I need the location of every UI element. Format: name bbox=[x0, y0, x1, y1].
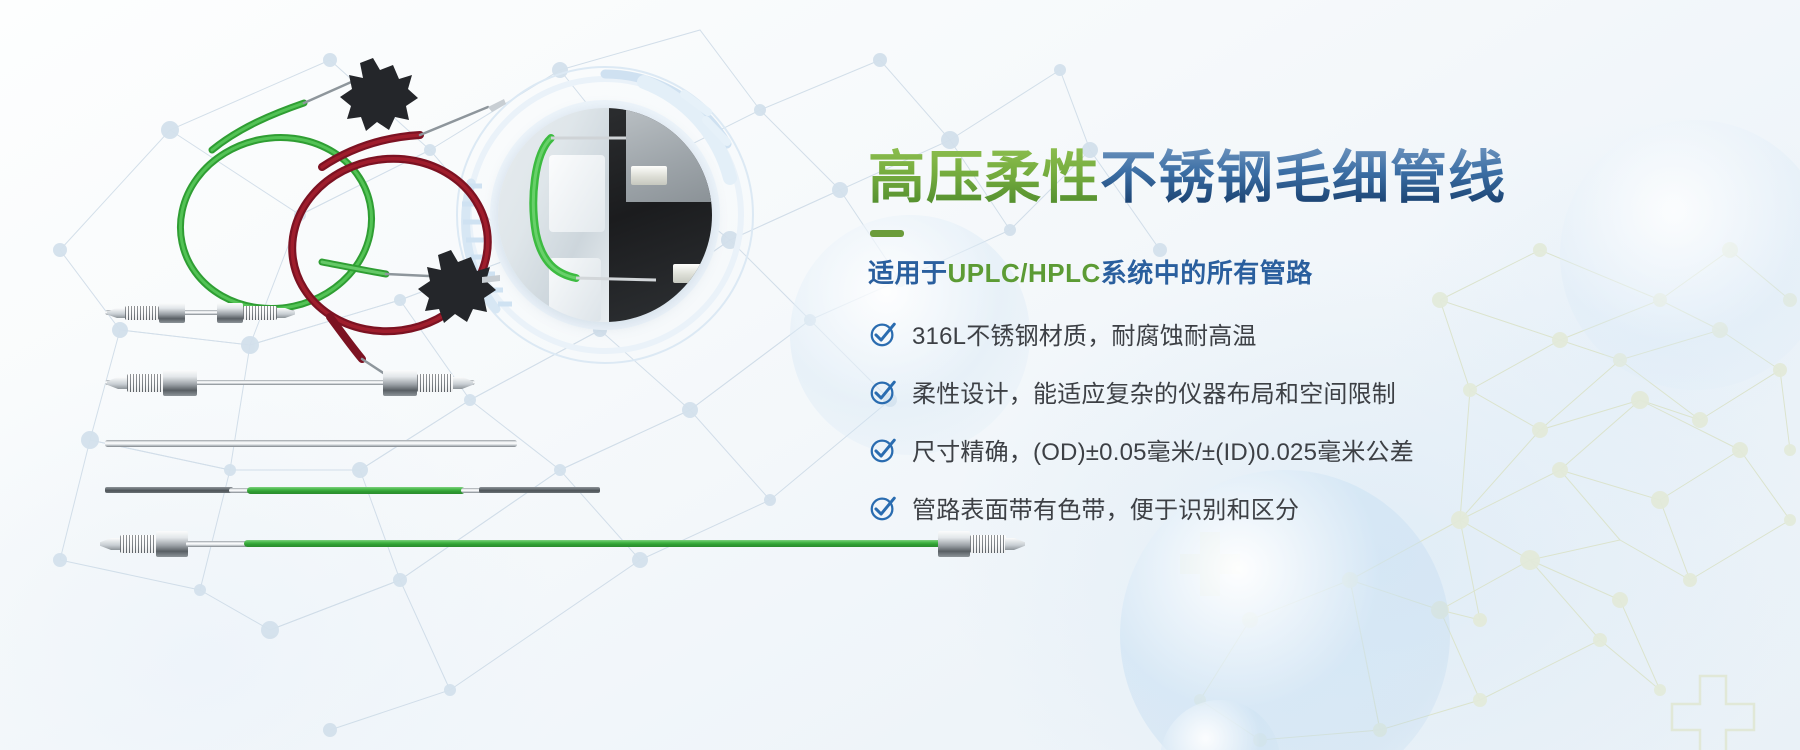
banner-text-panel: 高压柔性不锈钢毛细管线 适用于UPLC/HPLC系统中的所有管路 316L不锈钢… bbox=[868, 150, 1768, 548]
coiled-capillary-tubing bbox=[90, 55, 550, 375]
medium-capillary-assembly bbox=[105, 368, 475, 398]
subtitle-highlight: UPLC/HPLC bbox=[948, 258, 1101, 288]
check-circle-icon bbox=[868, 377, 898, 407]
check-circle-icon bbox=[868, 319, 898, 349]
subtitle-prefix: 适用于 bbox=[868, 258, 948, 288]
page-subtitle: 适用于UPLC/HPLC系统中的所有管路 bbox=[868, 253, 1768, 290]
check-circle-icon bbox=[868, 493, 898, 523]
title-divider bbox=[870, 230, 904, 237]
background-bubble bbox=[1160, 700, 1280, 750]
feature-text: 尺寸精确，(OD)±0.05毫米/±(ID)0.025毫米公差 bbox=[912, 432, 1414, 467]
page-title: 高压柔性不锈钢毛细管线 bbox=[868, 150, 1768, 207]
list-item: 尺寸精确，(OD)±0.05毫米/±(ID)0.025毫米公差 bbox=[868, 432, 1768, 467]
short-capillary-assembly bbox=[105, 300, 295, 326]
list-item: 管路表面带有色带，便于识别和区分 bbox=[868, 490, 1768, 525]
feature-text: 柔性设计，能适应复杂的仪器布局和空间限制 bbox=[912, 374, 1396, 409]
feature-text: 管路表面带有色带，便于识别和区分 bbox=[912, 490, 1299, 525]
list-item: 316L不锈钢材质，耐腐蚀耐高温 bbox=[868, 316, 1768, 351]
list-item: 柔性设计，能适应复杂的仪器布局和空间限制 bbox=[868, 374, 1768, 409]
subtitle-suffix: 系统中的所有管路 bbox=[1101, 258, 1313, 288]
check-circle-icon bbox=[868, 435, 898, 465]
title-green-part: 高压柔性 bbox=[868, 146, 1100, 210]
bare-steel-tube bbox=[105, 440, 517, 448]
title-blue-part: 不锈钢毛细管线 bbox=[1100, 146, 1506, 210]
product-photo-area bbox=[0, 0, 880, 750]
feature-text: 316L不锈钢材质，耐腐蚀耐高温 bbox=[912, 316, 1257, 351]
product-banner: 高压柔性不锈钢毛细管线 适用于UPLC/HPLC系统中的所有管路 316L不锈钢… bbox=[0, 0, 1800, 750]
feature-list: 316L不锈钢材质，耐腐蚀耐高温 柔性设计，能适应复杂的仪器布局和空间限制 尺寸… bbox=[868, 316, 1768, 525]
green-banded-tube bbox=[105, 487, 600, 495]
